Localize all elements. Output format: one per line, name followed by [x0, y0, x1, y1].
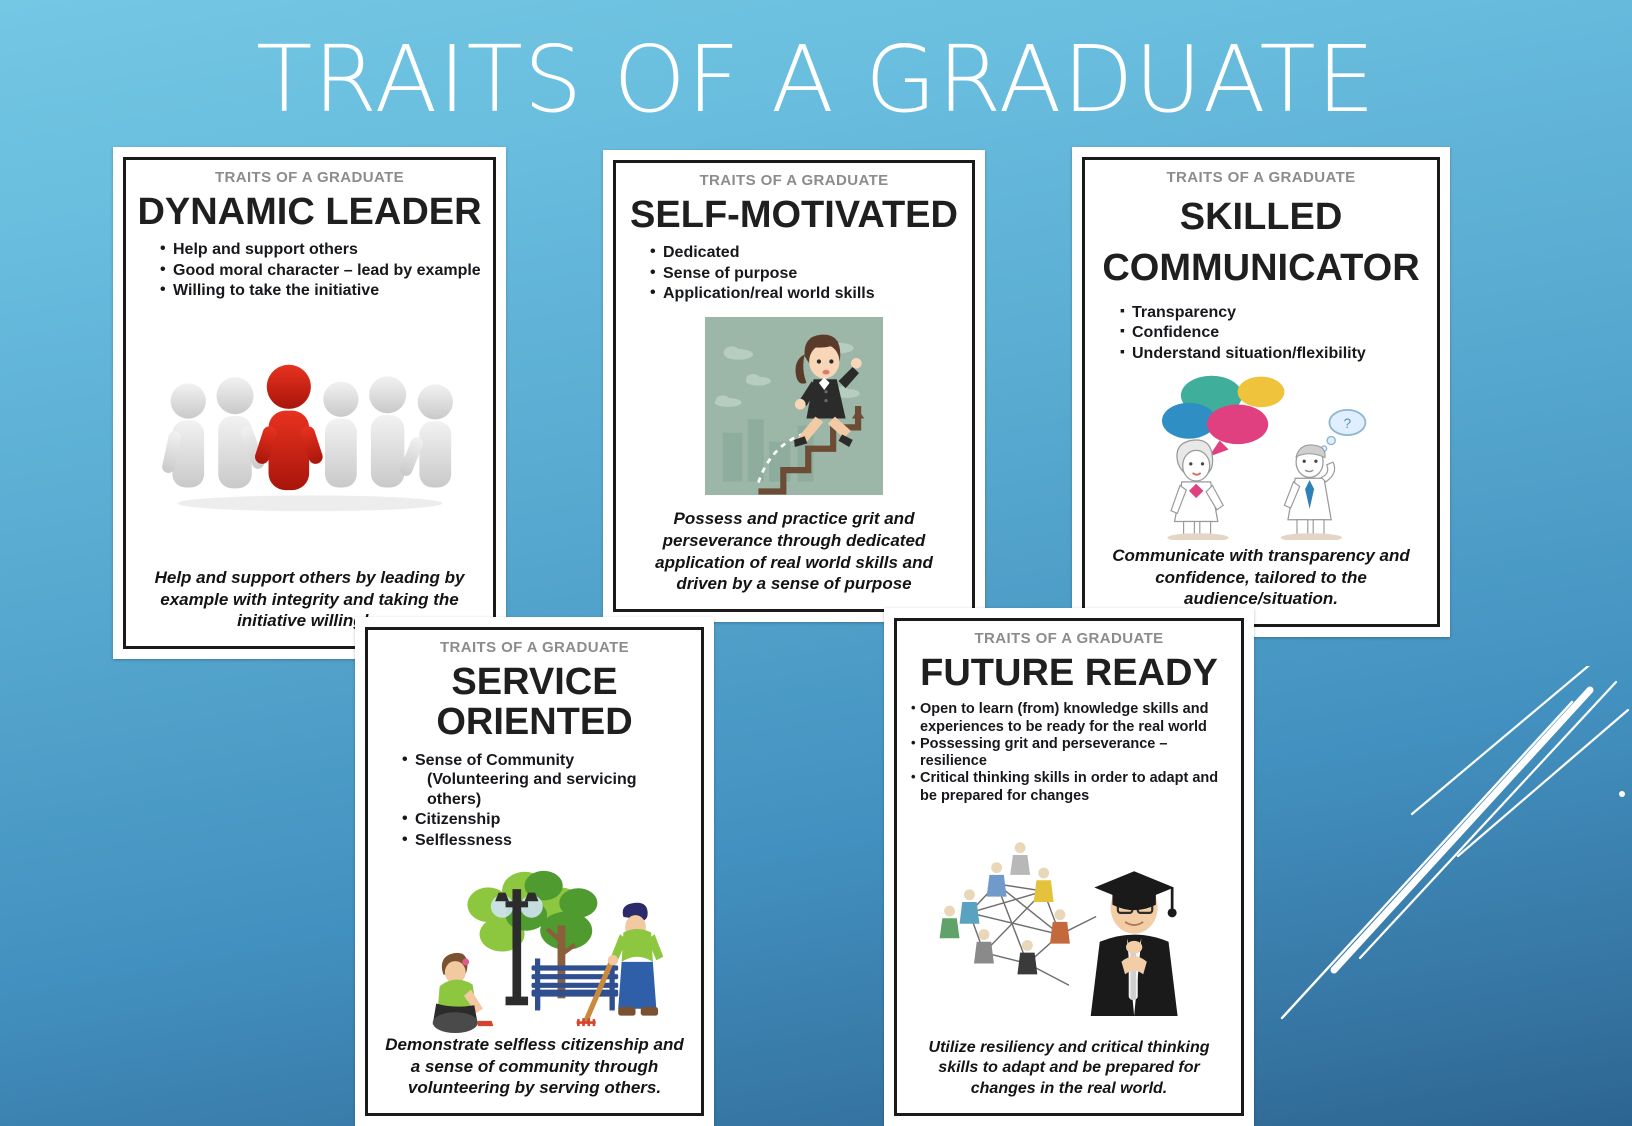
card-bullet-list: Dedicated Sense of purpose Application/r…: [616, 243, 972, 305]
card-bullet-list: Sense of Community (Volunteering and ser…: [368, 751, 701, 852]
decorative-diagonal-lines: [1272, 666, 1632, 1126]
list-item: Understand situation/flexibility: [1119, 344, 1427, 364]
card-headline-line2: COMMUNICATOR: [1085, 243, 1437, 294]
list-item: Application/real world skills: [650, 284, 962, 304]
card-inner: TRAITS OF A GRADUATE FUTURE READY Open t…: [894, 618, 1244, 1116]
list-item: Selflessness: [402, 831, 691, 851]
card-headline: SKILLED COMMUNICATOR: [1085, 192, 1437, 295]
woman-climbing-stairs-illustration: [616, 305, 972, 508]
list-item: Open to learn (from) knowledge skills an…: [911, 701, 1231, 736]
list-item: Dedicated: [650, 243, 962, 263]
list-item: Confidence: [1119, 323, 1427, 343]
two-people-speech-bubbles-illustration: ?: [1085, 364, 1437, 545]
card-inner: TRAITS OF A GRADUATE SELF-MOTIVATED Dedi…: [613, 160, 975, 612]
card-caption: Possess and practice grit and perseveran…: [616, 508, 972, 609]
leadership-crowd-figures-illustration: [126, 302, 493, 567]
card-headline: SERVICE ORIENTED: [368, 662, 701, 743]
card-inner: TRAITS OF A GRADUATE DYNAMIC LEADER Help…: [123, 157, 496, 649]
list-item: Possessing grit and perseverance – resil…: [911, 736, 1231, 771]
card-eyebrow: TRAITS OF A GRADUATE: [897, 630, 1241, 647]
card-headline: DYNAMIC LEADER: [126, 192, 493, 232]
card-inner: TRAITS OF A GRADUATE SERVICE ORIENTED Se…: [365, 627, 704, 1116]
card-bullet-list: Transparency Confidence Understand situa…: [1085, 303, 1437, 365]
page-title: TRAITS OF A GRADUATE: [0, 34, 1632, 126]
poster-card-skilled-communicator[interactable]: TRAITS OF A GRADUATE SKILLED COMMUNICATO…: [1072, 147, 1450, 637]
poster-card-future-ready[interactable]: TRAITS OF A GRADUATE FUTURE READY Open t…: [884, 608, 1254, 1126]
list-item-text: Sense of Community: [415, 752, 574, 769]
list-item: Sense of Community (Volunteering and ser…: [402, 751, 691, 810]
card-caption: Demonstrate selfless citizenship and a s…: [368, 1034, 701, 1113]
list-item: Good moral character – lead by example: [160, 261, 483, 281]
card-eyebrow: TRAITS OF A GRADUATE: [126, 169, 493, 186]
list-item: Help and support others: [160, 240, 483, 260]
list-item: Sense of purpose: [650, 264, 962, 284]
card-bullet-list: Help and support others Good moral chara…: [126, 240, 493, 302]
svg-text:?: ?: [1344, 416, 1352, 431]
poster-card-dynamic-leader[interactable]: TRAITS OF A GRADUATE DYNAMIC LEADER Help…: [113, 147, 506, 659]
card-inner: TRAITS OF A GRADUATE SKILLED COMMUNICATO…: [1082, 157, 1440, 627]
graduate-with-network-of-people-illustration: [897, 805, 1241, 1038]
list-item-subtext: (Volunteering and servicing others): [415, 770, 691, 809]
card-headline-line1: SKILLED: [1085, 192, 1437, 243]
card-caption: Utilize resiliency and critical thinking…: [897, 1038, 1241, 1113]
list-item: Critical thinking skills in order to ada…: [911, 770, 1231, 805]
list-item: Transparency: [1119, 303, 1427, 323]
list-item: Willing to take the initiative: [160, 281, 483, 301]
card-headline: FUTURE READY: [897, 653, 1241, 693]
poster-card-self-motivated[interactable]: TRAITS OF A GRADUATE SELF-MOTIVATED Dedi…: [603, 150, 985, 622]
list-item: Citizenship: [402, 810, 691, 830]
card-eyebrow: TRAITS OF A GRADUATE: [616, 172, 972, 189]
park-cleanup-volunteers-illustration: [368, 851, 701, 1034]
poster-card-service-oriented[interactable]: TRAITS OF A GRADUATE SERVICE ORIENTED Se…: [355, 617, 714, 1126]
card-eyebrow: TRAITS OF A GRADUATE: [1085, 169, 1437, 186]
card-eyebrow: TRAITS OF A GRADUATE: [368, 639, 701, 656]
card-headline: SELF-MOTIVATED: [616, 195, 972, 235]
card-bullet-list: Open to learn (from) knowledge skills an…: [897, 701, 1241, 805]
